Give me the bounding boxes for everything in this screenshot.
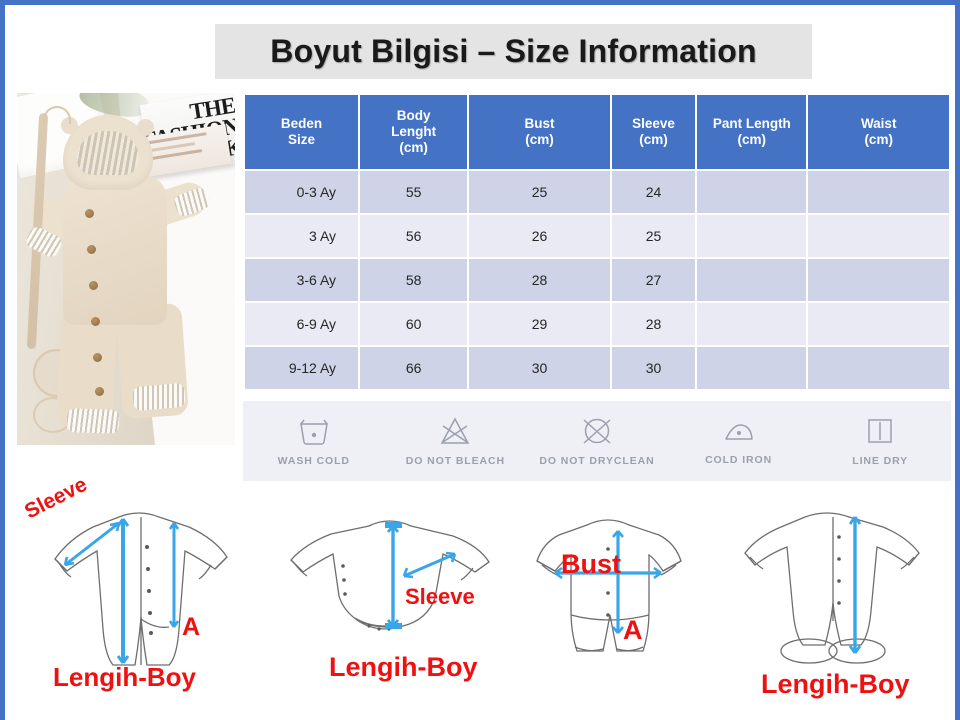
- cell-waist: [808, 215, 949, 257]
- cell-body-length: 56: [360, 215, 467, 257]
- diagram-1-length-label: Lengih-Boy: [53, 662, 196, 693]
- title-banner: Boyut Bilgisi – Size Information: [215, 24, 812, 79]
- romper-cuff-leg-left: [67, 408, 120, 434]
- cell-pant-length: [697, 215, 806, 257]
- care-label: DO NOT DRYCLEAN: [539, 455, 654, 467]
- column-header-waist: Waist (cm): [808, 95, 949, 169]
- diagram-1-garment: [19, 501, 259, 681]
- cell-bust: 25: [469, 171, 609, 213]
- cell-body-length: 55: [360, 171, 467, 213]
- sleeve-measure-arrow: [404, 553, 455, 577]
- care-item-wash-cold: WASH COLD: [250, 416, 378, 467]
- care-label: WASH COLD: [278, 455, 350, 467]
- a-measure-arrow: [613, 531, 623, 633]
- care-label: LINE DRY: [852, 455, 908, 467]
- page-title: Boyut Bilgisi – Size Information: [270, 33, 756, 70]
- cell-waist: [808, 171, 949, 213]
- photo-romper: [33, 113, 213, 443]
- care-label: COLD IRON: [705, 454, 772, 466]
- cell-waist: [808, 303, 949, 345]
- care-item-do-not-dryclean: DO NOT DRYCLEAN: [533, 416, 661, 467]
- cell-pant-length: [697, 259, 806, 301]
- romper-hood-lining: [77, 131, 139, 175]
- care-instructions-band: WASH COLD DO NOT BLEACH DO NOT DRYCLEAN: [243, 401, 951, 481]
- cell-body-length: 60: [360, 303, 467, 345]
- size-table-body: 0-3 Ay 55 25 24 3 Ay 56 26 25 3-6 Ay: [245, 171, 949, 389]
- table-row: 3-6 Ay 58 28 27: [245, 259, 949, 301]
- cell-bust: 26: [469, 215, 609, 257]
- cell-waist: [808, 347, 949, 389]
- cell-size: 9-12 Ay: [245, 347, 358, 389]
- cell-size: 3-6 Ay: [245, 259, 358, 301]
- cell-size: 6-9 Ay: [245, 303, 358, 345]
- do-not-dryclean-icon: [580, 416, 614, 446]
- romper-cuff-leg-right: [132, 383, 186, 411]
- cold-iron-icon: [721, 417, 757, 445]
- cell-body-length: 66: [360, 347, 467, 389]
- header-row: Beden Size Body Lenght (cm) Bust (cm) Sl…: [245, 95, 949, 169]
- table-row: 0-3 Ay 55 25 24: [245, 171, 949, 213]
- line-dry-icon: [865, 416, 895, 446]
- diagram-bodysuit: Sleeve Lengih-Boy: [277, 510, 507, 710]
- cell-body-length: 58: [360, 259, 467, 301]
- sleeve-measure-arrow: [65, 523, 119, 565]
- cell-pant-length: [697, 171, 806, 213]
- diagram-3-a-label: A: [623, 615, 643, 646]
- diagram-short-sleeve-romper: Bust A: [513, 507, 703, 687]
- cell-bust: 30: [469, 347, 609, 389]
- do-not-bleach-icon: [437, 416, 473, 446]
- cell-size: 0-3 Ay: [245, 171, 358, 213]
- diagram-4-garment: [705, 503, 955, 678]
- diagram-4-length-label: Lengih-Boy: [761, 669, 910, 700]
- column-header-beden-size: Beden Size: [245, 95, 358, 169]
- length-measure-arrow: [118, 519, 128, 663]
- product-photo: THE FASHION BOOK: [17, 93, 235, 445]
- table-row: 3 Ay 56 26 25: [245, 215, 949, 257]
- table-row: 9-12 Ay 66 30 30: [245, 347, 949, 389]
- diagram-3-bust-label: Bust: [561, 549, 621, 580]
- column-header-bust: Bust (cm): [469, 95, 609, 169]
- length-measure-arrow: [385, 522, 402, 629]
- length-measure-arrow: [850, 517, 860, 653]
- cell-sleeve: 27: [612, 259, 696, 301]
- cell-bust: 28: [469, 259, 609, 301]
- slide-frame: Boyut Bilgisi – Size Information THE FAS…: [0, 0, 960, 720]
- cell-waist: [808, 259, 949, 301]
- cell-sleeve: 28: [612, 303, 696, 345]
- size-table-header: Beden Size Body Lenght (cm) Bust (cm) Sl…: [245, 95, 949, 169]
- size-table-container: Beden Size Body Lenght (cm) Bust (cm) Sl…: [243, 93, 951, 391]
- diagram-1-a-label: A: [182, 613, 200, 642]
- table-row: 6-9 Ay 60 29 28: [245, 303, 949, 345]
- cell-size: 3 Ay: [245, 215, 358, 257]
- cell-sleeve: 24: [612, 171, 696, 213]
- diagram-2-sleeve-label: Sleeve: [405, 584, 475, 610]
- cell-pant-length: [697, 303, 806, 345]
- care-item-line-dry: LINE DRY: [816, 416, 944, 467]
- a-measure-arrow: [170, 523, 178, 627]
- column-header-pant-length: Pant Length (cm): [697, 95, 806, 169]
- column-header-body-length: Body Lenght (cm): [360, 95, 467, 169]
- diagram-footed-sleepsuit: Lengih-Boy: [705, 503, 955, 718]
- column-header-sleeve: Sleeve (cm): [612, 95, 696, 169]
- care-item-do-not-bleach: DO NOT BLEACH: [391, 416, 519, 467]
- diagram-long-sleeve-romper: Sleeve A Lengih-Boy: [19, 497, 259, 717]
- cell-pant-length: [697, 347, 806, 389]
- romper-body: [63, 175, 167, 325]
- diagram-2-length-label: Lengih-Boy: [329, 652, 478, 683]
- size-table: Beden Size Body Lenght (cm) Bust (cm) Sl…: [243, 93, 951, 391]
- cell-sleeve: 30: [612, 347, 696, 389]
- diagram-3-garment: [513, 507, 703, 687]
- care-item-cold-iron: COLD IRON: [675, 417, 803, 466]
- care-label: DO NOT BLEACH: [406, 455, 505, 467]
- cell-sleeve: 25: [612, 215, 696, 257]
- cell-bust: 29: [469, 303, 609, 345]
- wash-cold-icon: [297, 416, 331, 446]
- romper-ear-right: [137, 119, 154, 136]
